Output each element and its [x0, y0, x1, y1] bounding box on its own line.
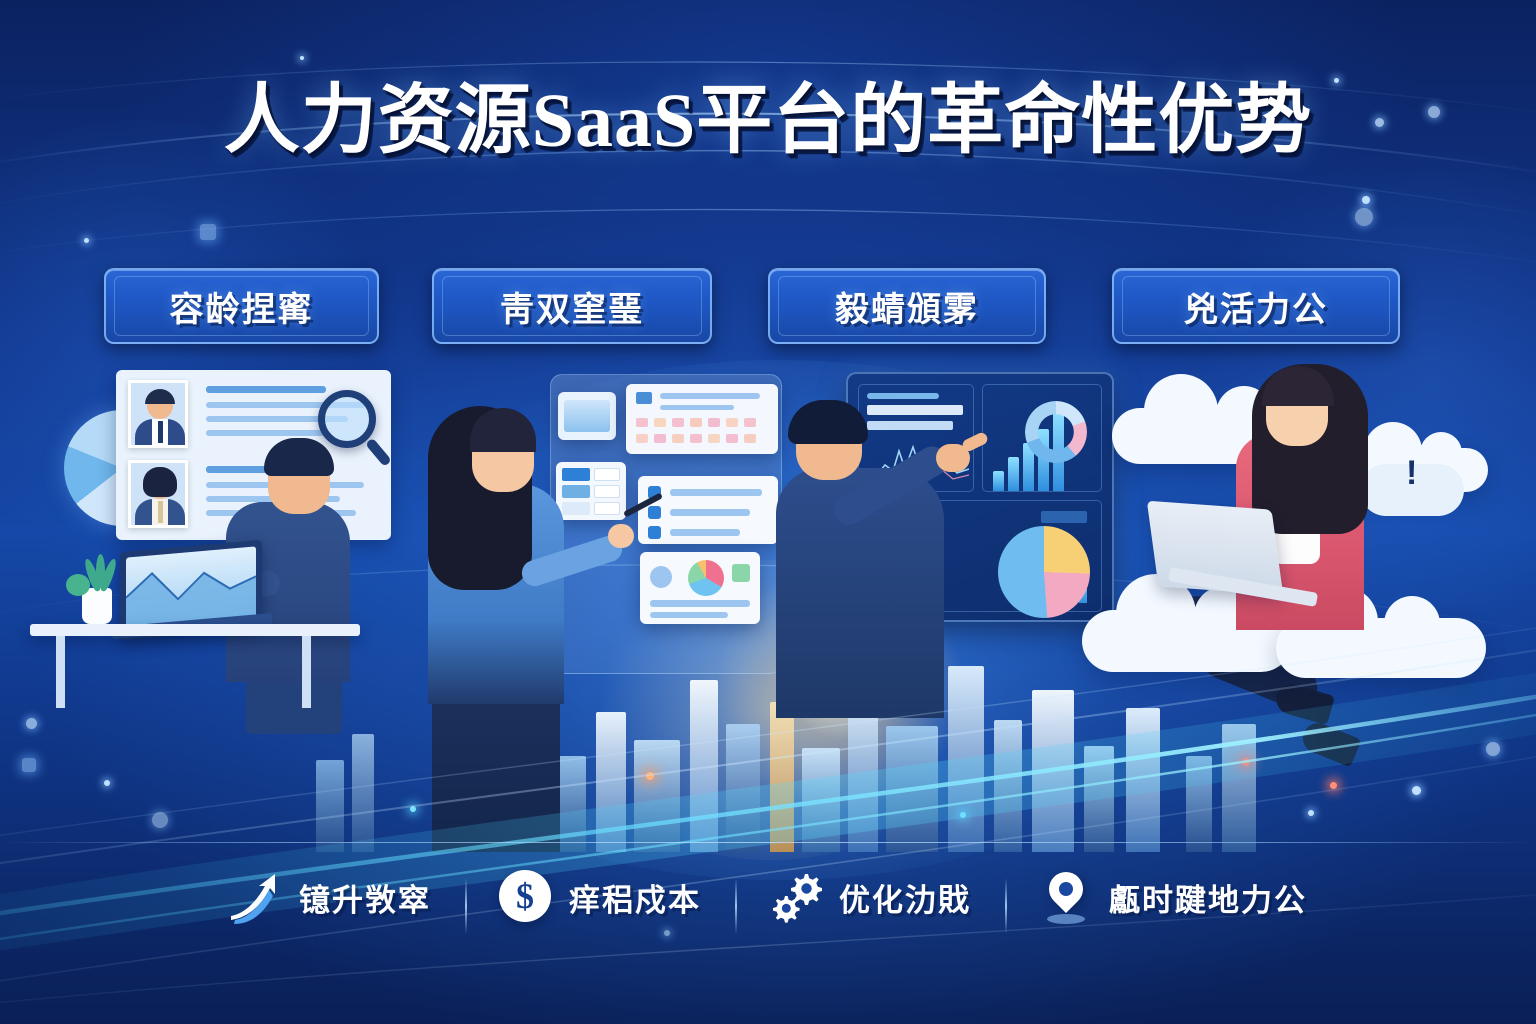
footer-process[interactable]: 优化氻戝	[735, 870, 1005, 924]
footer-divider	[0, 842, 1536, 843]
footer-label: 优化氻戝	[839, 875, 971, 920]
particle-dot	[1362, 196, 1370, 204]
alert-exclamation-icon: !	[1406, 456, 1417, 490]
particle-dot	[1355, 208, 1373, 226]
footer-label: 痒稆戍本	[569, 875, 701, 920]
category-pill-row: 容龄捏寗 靑双窐琧 毅蜻頒雺 兇活力公	[0, 268, 1536, 346]
footer-label: 甗时踺地力公	[1109, 875, 1307, 920]
illustration-band: !	[0, 352, 1536, 852]
graph-card	[558, 392, 616, 440]
shoe	[1298, 719, 1361, 768]
scene-recruiting-desk	[30, 352, 440, 852]
particle-dot	[300, 56, 304, 60]
dollar-circle-icon: $	[499, 870, 553, 924]
pill-mobile-office[interactable]: 兇活力公	[1112, 268, 1400, 344]
arrow-up-icon	[229, 870, 283, 924]
scene-analytics-dashboard	[780, 352, 1120, 852]
desk-leg	[56, 636, 65, 708]
donut-chart	[1025, 401, 1087, 463]
pill-analytics[interactable]: 毅蜻頒雺	[768, 268, 1046, 344]
plant-leaf	[66, 574, 90, 596]
desk-leg	[302, 636, 311, 708]
checklist-card	[638, 476, 778, 544]
page-title: 人力资源SaaS平台的革命性优势	[224, 82, 1313, 161]
pill-label: 兇活力公	[1184, 282, 1328, 331]
footer-benefits-row: 镱升敩窣 $ 痒稆戍本 优化氻戝	[0, 852, 1536, 942]
pie-chart	[998, 526, 1090, 618]
candidate-avatar	[128, 380, 188, 448]
pill-label: 容龄捏寗	[170, 282, 314, 331]
table-card	[556, 462, 626, 520]
pie-chart-card	[640, 552, 760, 624]
pin-shadow	[1047, 914, 1085, 924]
scene-hr-management	[410, 352, 790, 852]
location-pin-icon	[1039, 870, 1093, 924]
footer-efficiency[interactable]: 镱升敩窣	[195, 870, 465, 924]
pill-recruiting[interactable]: 容龄捏寗	[104, 268, 379, 344]
gears-icon	[769, 870, 823, 924]
footer-label: 镱升敩窣	[299, 875, 431, 920]
pill-label: 靑双窐琧	[500, 282, 644, 331]
mini-pie-chart	[688, 560, 724, 596]
footer-cost[interactable]: $ 痒稆戍本	[465, 870, 735, 924]
pin-glyph	[1042, 865, 1090, 913]
poster-title-wrapper: 人力资源SaaS平台的革命性优势	[0, 82, 1536, 161]
plant-pot	[82, 588, 112, 624]
person-hr-hand	[608, 524, 634, 548]
desk-top	[30, 624, 360, 636]
candidate-avatar	[128, 460, 188, 528]
dashboard-panel-charts	[982, 384, 1102, 492]
footer-anywhere[interactable]: 甗时踺地力公	[1005, 870, 1341, 924]
magnifier-icon	[318, 390, 376, 448]
infographic-poster: 人力资源SaaS平台的革命性优势 容龄捏寗 靑双窐琧 毅蜻頒雺 兇活力公	[0, 0, 1536, 1024]
particle-square	[200, 224, 216, 240]
particle-dot	[84, 238, 89, 243]
pill-label: 毅蜻頒雺	[835, 282, 979, 331]
shoe	[1273, 681, 1335, 725]
calendar-card	[626, 384, 778, 454]
scene-cloud-office: !	[1090, 352, 1510, 852]
pill-management[interactable]: 靑双窐琧	[432, 268, 712, 344]
dollar-glyph: $	[499, 870, 551, 922]
